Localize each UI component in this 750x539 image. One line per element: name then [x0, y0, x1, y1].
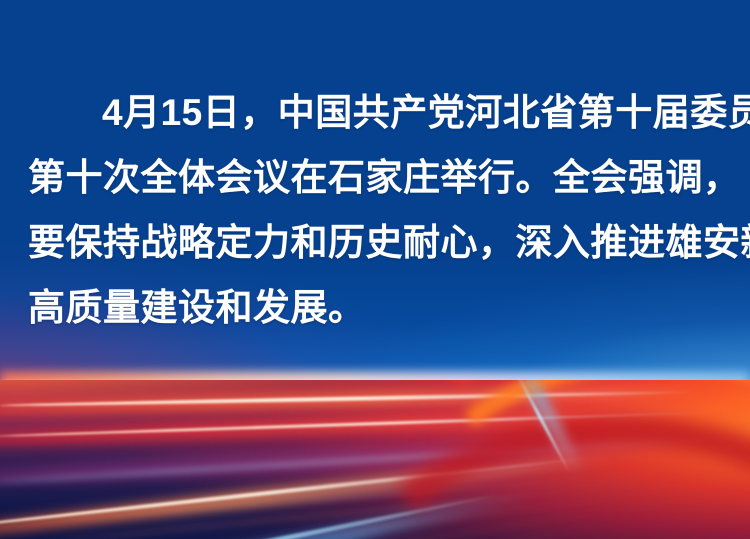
headline-text-block: 4月15日，中国共产党河北省第十届委员会 第十次全体会议在石家庄举行。全会强调，…	[28, 80, 728, 340]
news-graphic-poster: 4月15日，中国共产党河北省第十届委员会 第十次全体会议在石家庄举行。全会强调，…	[0, 0, 750, 539]
headline-line-1: 4月15日，中国共产党河北省第十届委员会	[28, 80, 728, 145]
headline-line-4: 高质量建设和发展。	[28, 275, 728, 340]
headline-line-3: 要保持战略定力和历史耐心，深入推进雄安新区	[28, 210, 728, 275]
light-trail-ground	[0, 380, 750, 539]
headline-line-2: 第十次全体会议在石家庄举行。全会强调，	[28, 145, 728, 210]
